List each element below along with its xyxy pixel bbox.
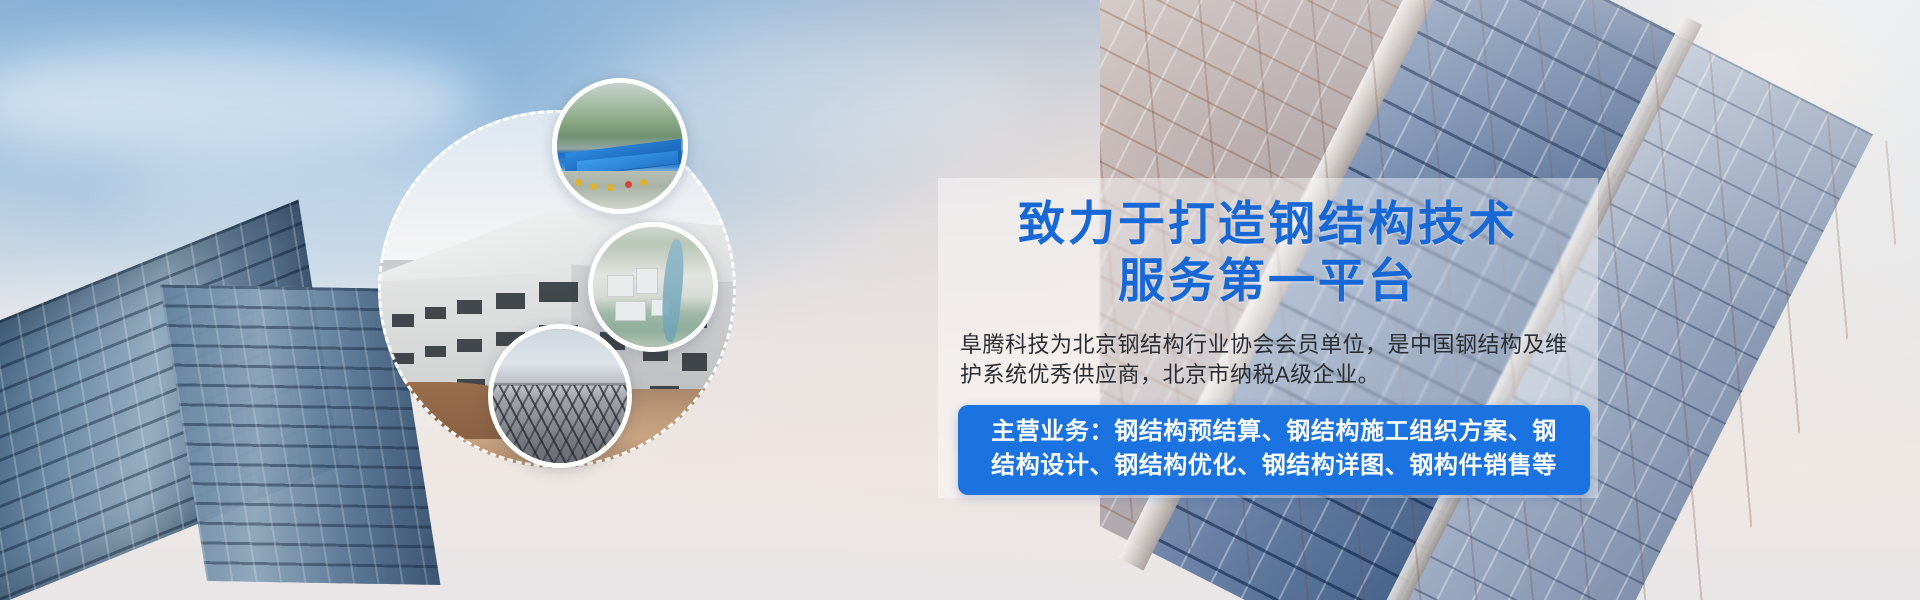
headline-line-1: 致力于打造钢结构技术 [1018,197,1518,252]
banner-headline: 致力于打造钢结构技术 服务第一平台 [958,196,1578,310]
photo-landscape-dot [590,183,597,190]
mini-circle-photo-1 [552,78,688,214]
business-line-1: 主营业务：钢结构预结算、钢结构施工组织方案、钢 [974,415,1574,449]
headline-line-2: 服务第一平台 [958,253,1578,310]
subtitle-line-2: 护系统优秀供应商，北京市纳税A级企业。 [960,360,1590,390]
photo-landscape-dot [575,179,582,186]
business-scope-box[interactable]: 主营业务：钢结构预结算、钢结构施工组织方案、钢 结构设计、钢结构优化、钢结构详图… [958,405,1590,495]
banner-subtitle: 阜腾科技为北京钢结构行业协会会员单位，是中国钢结构及维 护系统优秀供应商，北京市… [960,330,1590,390]
photo-building-block [615,301,646,320]
steel-space-frame-photo [493,329,627,463]
business-line-2: 结构设计、钢结构优化、钢结构详图、钢构件销售等 [974,449,1574,483]
mini-circle-photo-3 [488,324,632,468]
photo-building-block [607,275,633,297]
subtitle-line-1: 阜腾科技为北京钢结构行业协会会员单位，是中国钢结构及维 [960,330,1590,360]
photo-space-frame-grid [488,385,632,468]
left-glass-tower-image [0,217,385,600]
photo-building-block [636,268,658,294]
hero-banner: 致力于打造钢结构技术 服务第一平台 阜腾科技为北京钢结构行业协会会员单位，是中国… [0,0,1920,600]
aerial-factory-blue-roof-photo [557,83,683,209]
photo-river [657,238,687,343]
photo-landscape-dot [640,179,647,186]
photo-parking-lot [557,171,683,209]
